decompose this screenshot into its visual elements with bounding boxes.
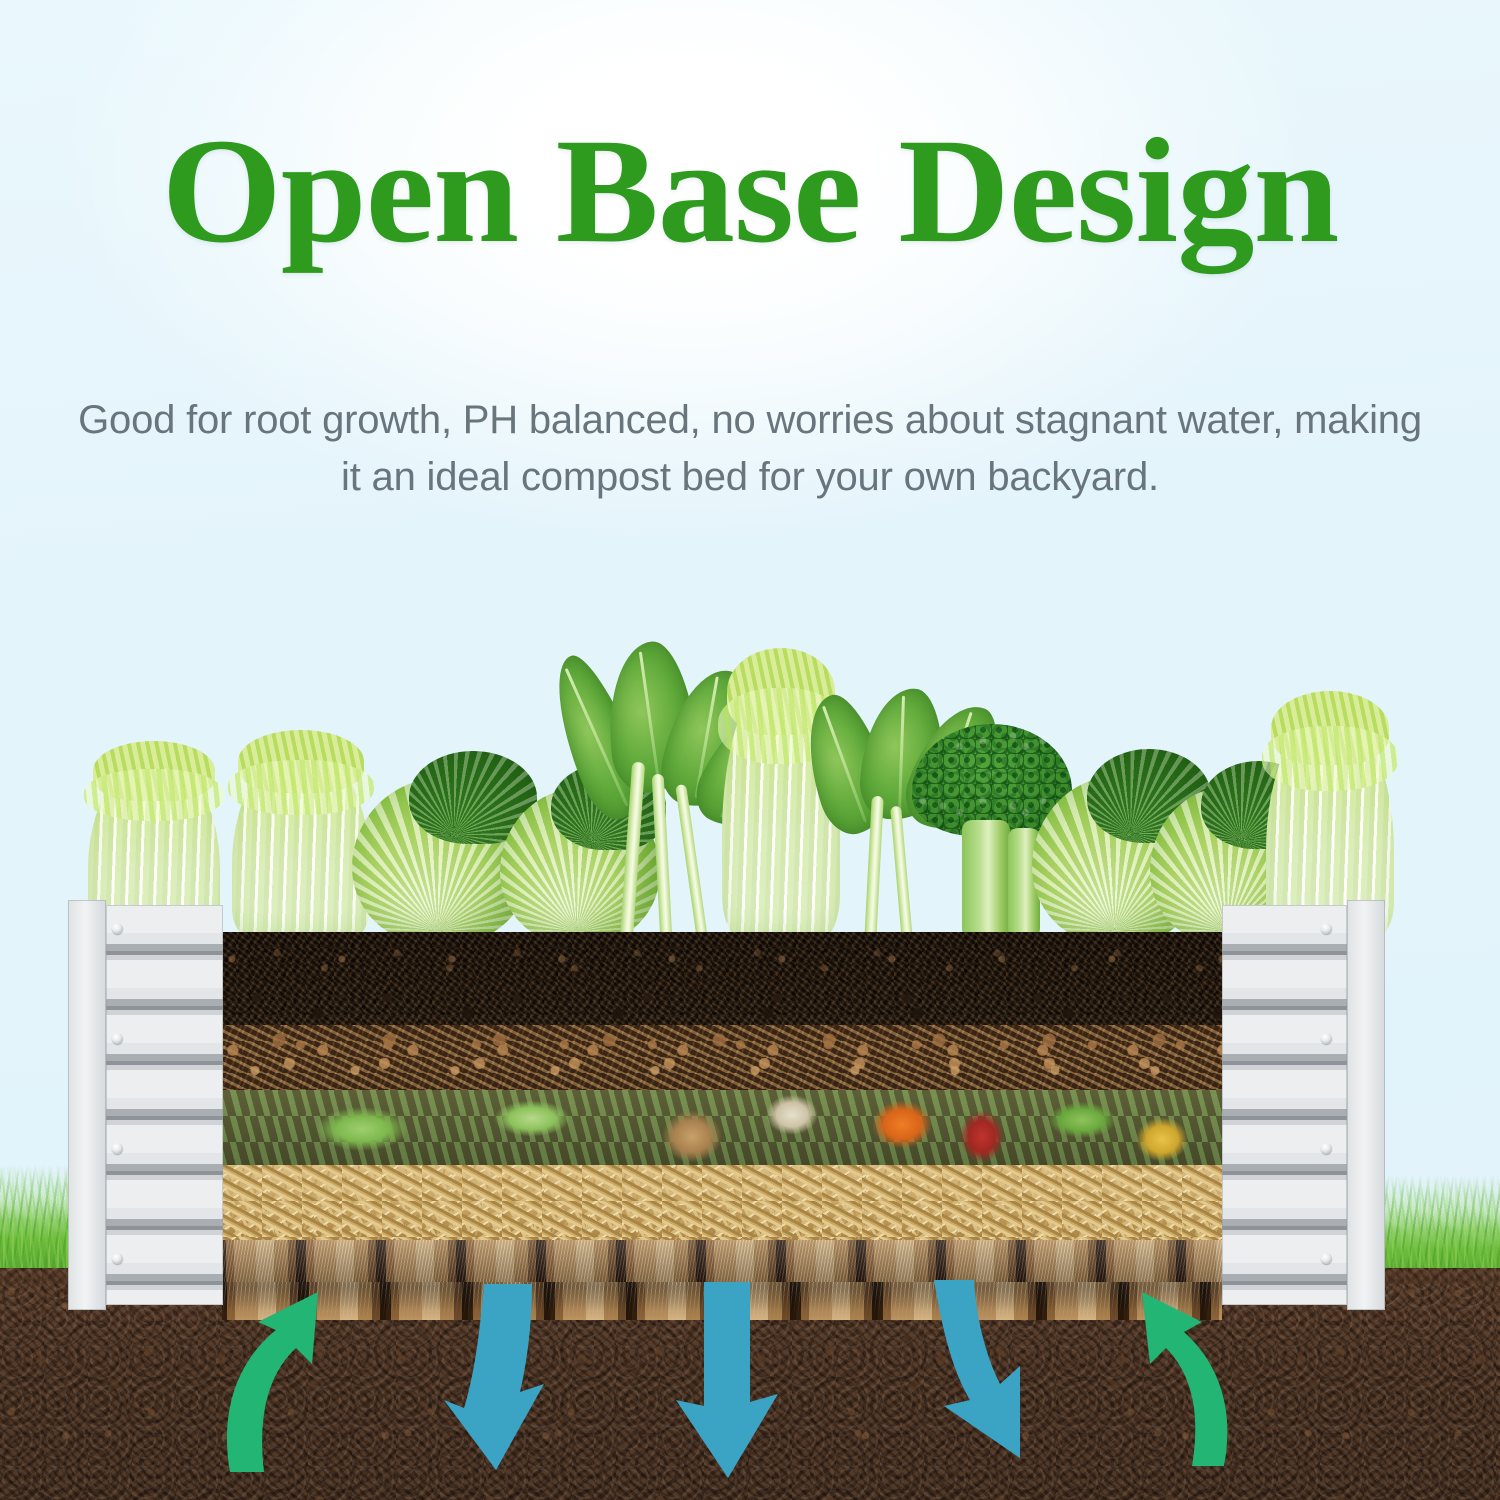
panel-screws — [1321, 905, 1339, 1305]
arrow-down-blue-2 — [666, 1282, 806, 1482]
panel-side-face — [1347, 900, 1385, 1310]
right-corrugated-panel — [1222, 905, 1385, 1305]
screw-icon — [112, 1143, 123, 1154]
stalk — [652, 774, 673, 940]
layer-mulch-bark — [222, 1025, 1222, 1090]
screw-icon — [112, 923, 123, 934]
left-corrugated-panel — [68, 905, 223, 1305]
napa-cabbage-2 — [232, 748, 370, 944]
stalk — [890, 806, 913, 942]
panel-screws — [112, 905, 130, 1305]
layer-straw — [222, 1165, 1222, 1240]
screw-icon — [112, 1033, 123, 1044]
screw-icon — [1321, 1253, 1332, 1264]
broccoli-stem — [962, 820, 1010, 944]
arrow-down-blue-1 — [440, 1284, 580, 1474]
arrow-up-green-1 — [214, 1286, 364, 1476]
screw-icon — [1321, 923, 1332, 934]
page-title: Open Base Design — [0, 116, 1500, 266]
compost-cross-section — [222, 932, 1222, 1282]
arrow-down-blue-3 — [908, 1280, 1058, 1470]
panel-side-face — [68, 900, 106, 1310]
page-subtitle: Good for root growth, PH balanced, no wo… — [65, 392, 1435, 506]
screw-icon — [112, 1253, 123, 1264]
screw-icon — [1321, 1033, 1332, 1044]
arrow-up-green-2 — [1100, 1288, 1250, 1468]
layer-compost-topsoil — [222, 932, 1222, 1025]
screw-icon — [1321, 1143, 1332, 1154]
layer-wood-logs — [222, 1240, 1222, 1282]
layer-kitchen-scraps — [222, 1090, 1222, 1165]
infographic-canvas: Open Base Design Good for root growth, P… — [0, 0, 1500, 1500]
